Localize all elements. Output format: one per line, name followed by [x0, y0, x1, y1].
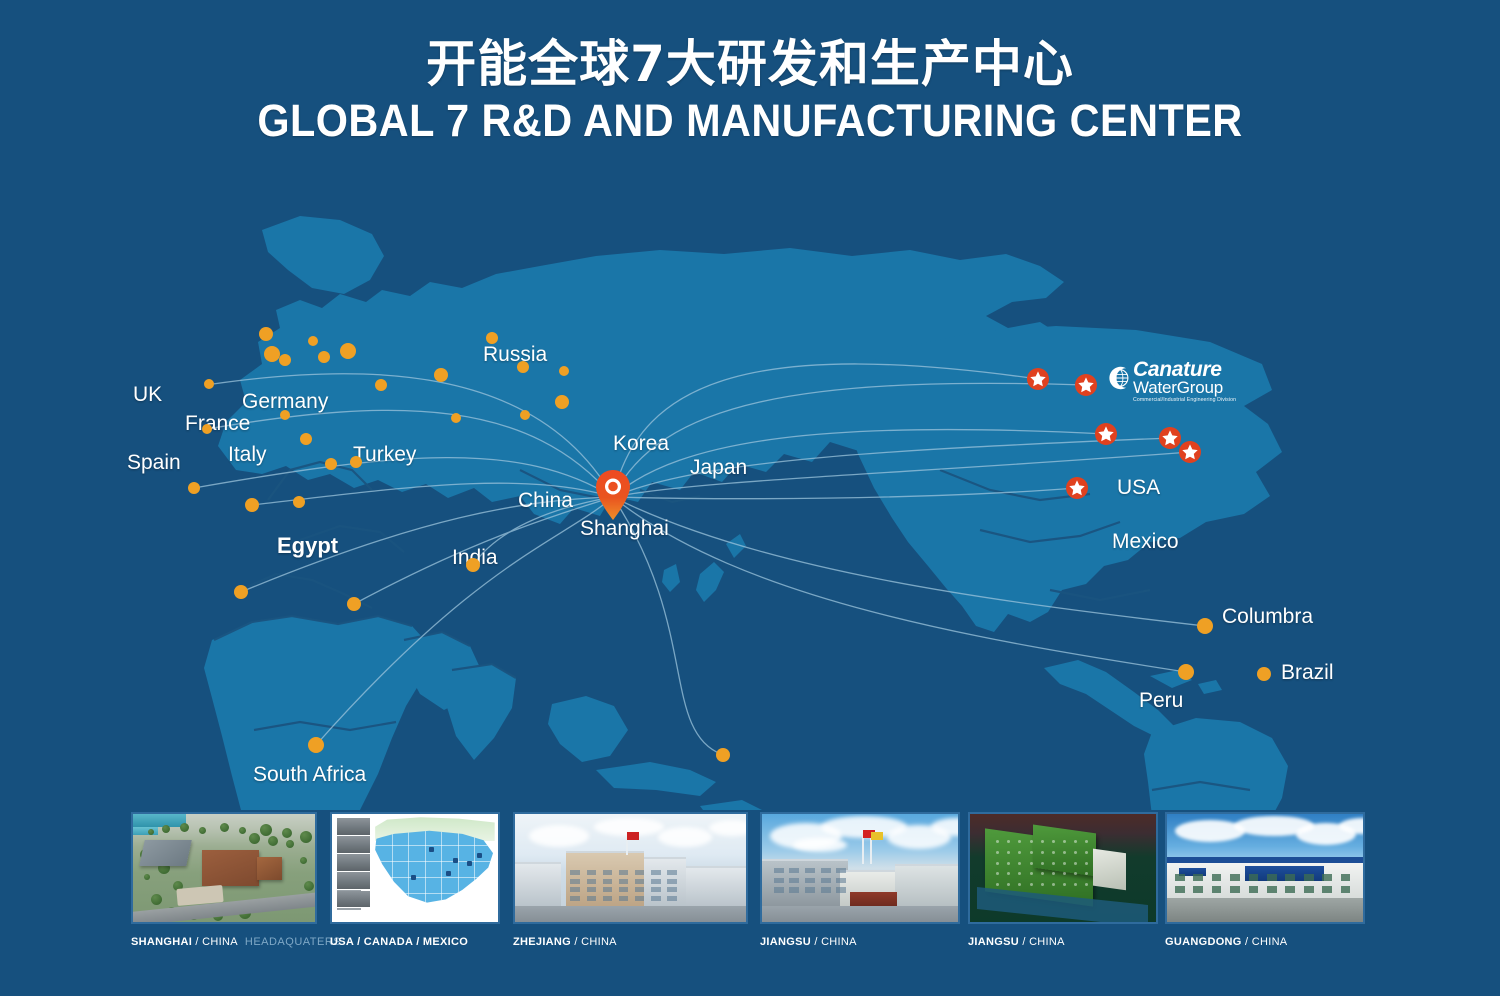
- office-dot: [716, 748, 730, 762]
- factory-star-marker[interactable]: [1065, 476, 1089, 500]
- office-dot: [1257, 667, 1271, 681]
- caption-separator: / CHINA: [1019, 936, 1065, 948]
- office-dot: [555, 395, 569, 409]
- facility-caption: ZHEJIANG / CHINA: [513, 936, 748, 948]
- office-dot: [347, 597, 361, 611]
- thumb-zhejiang[interactable]: ZHEJIANG / CHINA: [513, 812, 748, 948]
- facility-photo: [330, 812, 500, 924]
- factory-star-marker[interactable]: [1026, 367, 1050, 391]
- caption-separator: / CHINA: [571, 936, 617, 948]
- map-label-japan: Japan: [690, 456, 747, 480]
- office-dot: [204, 379, 214, 389]
- office-dot: [325, 458, 337, 470]
- map-label-italy: Italy: [228, 443, 267, 467]
- thumb-jiangsu-2[interactable]: JIANGSU / CHINA: [968, 812, 1158, 948]
- facility-location: USA / CANADA / MEXICO: [330, 936, 468, 948]
- facility-location: ZHEJIANG: [513, 936, 571, 948]
- map-label-russia: Russia: [483, 343, 547, 367]
- facility-photo: [760, 812, 960, 924]
- office-dot: [517, 361, 529, 373]
- map-label-turkey: Turkey: [353, 443, 416, 467]
- headquarters-badge: HEADAQUATERS: [245, 936, 341, 948]
- office-dot: [264, 346, 280, 362]
- office-dot: [350, 456, 362, 468]
- office-dot: [1197, 618, 1213, 634]
- world-map: UKGermanyFranceSpainItalyTurkeyEgyptRuss…: [0, 170, 1500, 810]
- map-label-usa: USA: [1117, 476, 1160, 500]
- office-dot: [234, 585, 248, 599]
- office-dot: [300, 433, 312, 445]
- logo-line-2: WaterGroup: [1133, 379, 1236, 397]
- map-label-spain: Spain: [127, 451, 181, 475]
- thumb-jiangsu-1[interactable]: JIANGSU / CHINA: [760, 812, 960, 948]
- office-dot: [308, 737, 324, 753]
- facility-photo: [968, 812, 1158, 924]
- office-dot: [1178, 664, 1194, 680]
- map-label-south-africa: South Africa: [253, 763, 366, 787]
- map-label-egypt: Egypt: [277, 533, 338, 559]
- office-dot: [280, 410, 290, 420]
- office-dot: [318, 351, 330, 363]
- office-dot: [340, 343, 356, 359]
- title-chinese: 开能全球7大研发和生产中心: [0, 36, 1500, 92]
- office-dot: [202, 424, 212, 434]
- poster-canvas: 开能全球7大研发和生产中心 GLOBAL 7 R&D AND MANUFACTU…: [0, 0, 1500, 996]
- office-dot: [451, 413, 461, 423]
- facility-photo: [1165, 812, 1365, 924]
- canature-watergroup-logo: Canature WaterGroup Commercial/Industria…: [1105, 362, 1245, 410]
- map-label-france: France: [185, 412, 250, 436]
- office-dot: [279, 354, 291, 366]
- title-english: GLOBAL 7 R&D AND MANUFACTURING CENTER: [60, 96, 1440, 146]
- map-pin-icon[interactable]: [594, 469, 632, 521]
- facility-location: JIANGSU: [968, 936, 1019, 948]
- map-label-columbra: Columbra: [1222, 605, 1313, 629]
- office-dot: [245, 498, 259, 512]
- map-label-peru: Peru: [1139, 689, 1183, 713]
- globe-icon: [1105, 365, 1131, 396]
- map-label-brazil: Brazil: [1281, 661, 1334, 685]
- logo-tagline: Commercial/Industrial Engineering Divisi…: [1133, 397, 1236, 404]
- facility-caption: USA / CANADA / MEXICO: [330, 936, 500, 948]
- facility-caption: GUANGDONG / CHINA: [1165, 936, 1365, 948]
- office-dot: [308, 336, 318, 346]
- thumb-shanghai[interactable]: SHANGHAI / CHINAHEADAQUATERS: [131, 812, 317, 948]
- office-dot: [466, 558, 480, 572]
- office-dot: [188, 482, 200, 494]
- facility-location: GUANGDONG: [1165, 936, 1242, 948]
- facility-caption: JIANGSU / CHINA: [760, 936, 960, 948]
- facility-caption: SHANGHAI / CHINAHEADAQUATERS: [131, 936, 317, 948]
- factory-star-marker[interactable]: [1178, 440, 1202, 464]
- facility-location: SHANGHAI: [131, 936, 192, 948]
- map-label-uk: UK: [133, 383, 162, 407]
- thumb-guangdong[interactable]: GUANGDONG / CHINA: [1165, 812, 1365, 948]
- factory-star-marker[interactable]: [1074, 373, 1098, 397]
- map-label-china: China: [518, 489, 573, 513]
- caption-separator: / CHINA: [811, 936, 857, 948]
- office-dot: [520, 410, 530, 420]
- office-dot: [259, 327, 273, 341]
- page-title: 开能全球7大研发和生产中心 GLOBAL 7 R&D AND MANUFACTU…: [0, 36, 1500, 146]
- facility-location: JIANGSU: [760, 936, 811, 948]
- facility-thumbnail-strip: SHANGHAI / CHINAHEADAQUATERSUSA / CANADA…: [0, 812, 1500, 996]
- map-label-korea: Korea: [613, 432, 669, 456]
- office-dot: [293, 496, 305, 508]
- caption-separator: / CHINA: [192, 936, 238, 948]
- thumb-usa[interactable]: USA / CANADA / MEXICO: [330, 812, 500, 948]
- factory-star-marker[interactable]: [1094, 422, 1118, 446]
- office-dot: [559, 366, 569, 376]
- facility-caption: JIANGSU / CHINA: [968, 936, 1158, 948]
- facility-photo: [513, 812, 748, 924]
- logo-line-1: Canature: [1133, 360, 1236, 379]
- logo-text: Canature WaterGroup Commercial/Industria…: [1133, 360, 1236, 404]
- caption-separator: / CHINA: [1242, 936, 1288, 948]
- world-map-svg: [0, 170, 1500, 810]
- office-dot: [375, 379, 387, 391]
- continents: [204, 216, 1288, 810]
- facility-photo: [131, 812, 317, 924]
- map-label-mexico: Mexico: [1112, 530, 1179, 554]
- office-dot: [486, 332, 498, 344]
- office-dot: [434, 368, 448, 382]
